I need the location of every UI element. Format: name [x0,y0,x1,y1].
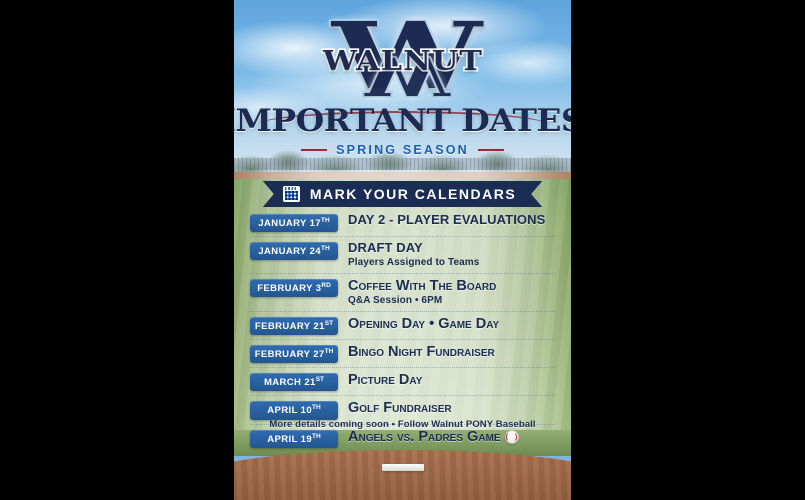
date-ordinal-suffix: TH [325,348,334,355]
event-details: DAY 2 - PLAYER EVALUATIONS [348,213,555,228]
date-ordinal-suffix: ST [316,376,324,383]
date-label: APRIL 19 [267,434,312,445]
date-badge: FEBRUARY 27TH [250,345,338,363]
date-label: JANUARY 24 [258,246,321,257]
event-details: Picture Day [348,372,555,388]
date-badge: MARCH 21ST [250,373,338,391]
date-badge: APRIL 10TH [250,401,338,419]
date-row: FEBRUARY 27THBingo Night Fundraiser [250,340,555,368]
event-title: Coffee With The Board [348,278,555,294]
date-label: FEBRUARY 3 [257,283,321,294]
flyer-image: W W WALNUT IMPORTANT DATES SPRING SEASON [234,0,571,500]
event-title-text: Picture Day [348,372,422,388]
date-row: JANUARY 17THDAY 2 - PLAYER EVALUATIONS [250,209,555,237]
date-ordinal-suffix: ST [325,320,333,327]
date-ordinal-suffix: RD [321,282,330,289]
dash-left-icon [301,149,327,151]
page-title: IMPORTANT DATES [234,106,571,137]
event-title-text: Golf Fundraiser [348,400,452,416]
date-ordinal-suffix: TH [321,217,330,224]
event-details: Coffee With The BoardQ&A Session • 6PM [348,278,555,307]
date-ordinal-suffix: TH [312,433,321,440]
date-label: JANUARY 17 [258,218,321,229]
event-details: DRAFT DAYPlayers Assigned to Teams [348,241,555,269]
event-title: Angels vs. Padres Game [348,429,555,445]
calendar-icon [283,186,300,202]
event-subtitle: Q&A Session • 6PM [348,295,555,307]
date-row: FEBRUARY 3RDCoffee With The BoardQ&A Ses… [250,274,555,312]
event-subtitle: Players Assigned to Teams [348,257,555,269]
event-title-text: Bingo Night Fundraiser [348,344,495,360]
mark-your-calendars-ribbon: MARK YOUR CALENDARS [234,181,571,207]
event-title-text: Angels vs. Padres Game [348,429,501,445]
walnut-team-logo: W W WALNUT [234,8,571,104]
event-title: Bingo Night Fundraiser [348,344,555,360]
footer-note: More details coming soon • Follow Walnut… [234,419,571,430]
date-label: MARCH 21 [264,377,316,388]
flyer-content: W W WALNUT IMPORTANT DATES SPRING SEASON [234,0,571,500]
date-badge: FEBRUARY 21ST [250,317,338,335]
headline-block: IMPORTANT DATES SPRING SEASON [234,106,571,157]
logo-wordmark: WALNUT [322,46,482,77]
event-title-text: DRAFT DAY [348,241,423,256]
event-details: Golf Fundraiser [348,400,555,416]
event-details: Opening Day • Game Day [348,316,555,332]
date-row: FEBRUARY 21STOpening Day • Game Day [250,312,555,340]
event-title: DRAFT DAY [348,241,555,256]
important-dates-list: JANUARY 17THDAY 2 - PLAYER EVALUATIONSJA… [234,209,571,452]
date-row: JANUARY 24THDRAFT DAYPlayers Assigned to… [250,237,555,274]
event-details: Angels vs. Padres Game [348,429,555,445]
ribbon-title: MARK YOUR CALENDARS [310,186,516,202]
event-details: Bingo Night Fundraiser [348,344,555,360]
date-label: FEBRUARY 27 [255,349,325,360]
event-title: Golf Fundraiser [348,400,555,416]
dash-right-icon [478,149,504,151]
subtitle-row: SPRING SEASON [301,143,504,157]
date-label: APRIL 10 [267,406,312,417]
event-title: DAY 2 - PLAYER EVALUATIONS [348,213,555,228]
date-badge: FEBRUARY 3RD [250,279,338,297]
date-row: MARCH 21STPicture Day [250,368,555,396]
event-title: Picture Day [348,372,555,388]
date-badge: JANUARY 17TH [250,214,338,232]
date-ordinal-suffix: TH [321,245,330,252]
event-title: Opening Day • Game Day [348,316,555,332]
page-subtitle: SPRING SEASON [336,143,469,157]
date-ordinal-suffix: TH [312,404,321,411]
event-title-text: Coffee With The Board [348,278,496,294]
date-label: FEBRUARY 21 [255,321,325,332]
date-badge: JANUARY 24TH [250,242,338,260]
screenshot-stage: W W WALNUT IMPORTANT DATES SPRING SEASON [0,0,805,500]
ribbon-banner: MARK YOUR CALENDARS [263,181,542,207]
baseball-icon [505,430,519,444]
logo-monogram-mark: W W WALNUT [323,8,483,104]
event-title-text: Opening Day • Game Day [348,316,499,332]
date-badge: APRIL 19TH [250,430,338,448]
event-title-text: DAY 2 - PLAYER EVALUATIONS [348,213,545,228]
